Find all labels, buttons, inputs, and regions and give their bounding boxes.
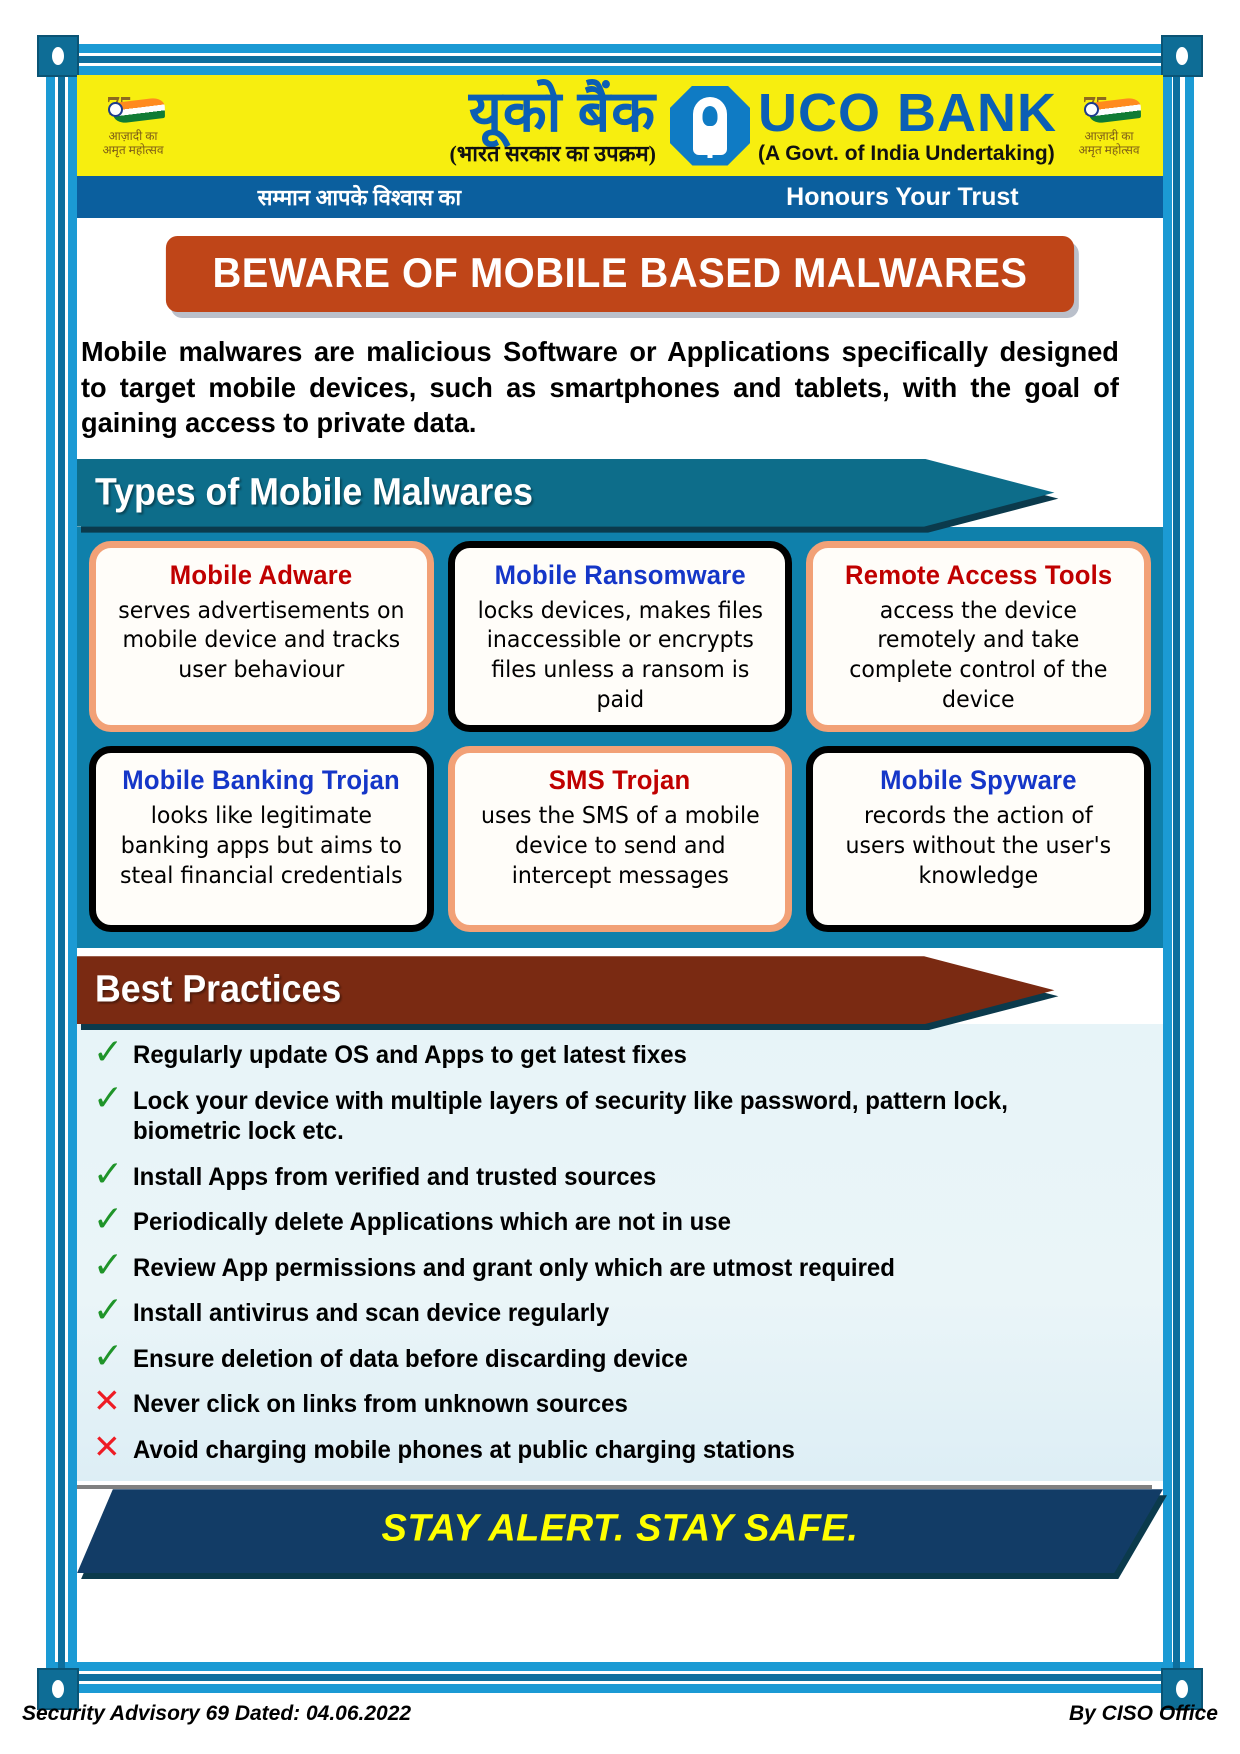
main-title-wrapper: BEWARE OF MOBILE BASED MALWARES <box>77 218 1163 312</box>
card-title: Remote Access Tools <box>845 560 1112 591</box>
footer-issuer: By CISO Office <box>1069 1702 1218 1726</box>
frame-bottom-bar-outer <box>46 1662 1194 1671</box>
check-icon: ✓ <box>93 1294 133 1328</box>
frame-left-bar-inner <box>68 44 77 1694</box>
card-description: uses the SMS of a mobile device to send … <box>473 802 767 891</box>
list-item: ✓ Review App permissions and grant only … <box>93 1249 1147 1284</box>
nib-slit-shape <box>708 136 713 158</box>
card-description: locks devices, makes files inaccessible … <box>473 597 767 716</box>
list-item-text: Install Apps from verified and trusted s… <box>133 1158 1106 1193</box>
card-description: records the action of users without the … <box>831 802 1125 891</box>
list-item-text: Install antivirus and scan device regula… <box>133 1294 1106 1329</box>
card-title: Mobile Adware <box>170 560 353 591</box>
section-ribbon-types: Types of Mobile Malwares <box>77 459 1163 527</box>
malware-card-sms-trojan: SMS Trojan uses the SMS of a mobile devi… <box>448 746 793 932</box>
frame-bottom-bar-inner <box>46 1684 1194 1693</box>
frame-top-bar-middle <box>46 56 1194 63</box>
card-title: Mobile Spyware <box>880 765 1077 796</box>
list-item-text: Lock your device with multiple layers of… <box>133 1082 1106 1147</box>
intro-paragraph: Mobile malwares are malicious Software o… <box>81 334 1127 441</box>
bank-name-hindi-block: यूको बैंक (भारत सरकार का उपक्रम) <box>179 84 662 166</box>
malware-card-remote-access-tools: Remote Access Tools access the device re… <box>806 541 1151 733</box>
list-item: ✕ Never click on links from unknown sour… <box>93 1385 1147 1420</box>
malware-cards-row-1: Mobile Adware serves advertisements on m… <box>89 541 1151 733</box>
bank-subtitle-hindi: (भारत सरकार का उपक्रम) <box>179 142 656 166</box>
cross-icon: ✕ <box>93 1385 133 1416</box>
list-item-text: Regularly update OS and Apps to get late… <box>133 1036 1106 1071</box>
list-item: ✓ Regularly update OS and Apps to get la… <box>93 1036 1147 1071</box>
amrit-hindi-line-1: आज़ादी का <box>108 130 157 144</box>
frame-top-bar-inner <box>46 66 1194 75</box>
bank-name-english: UCO BANK <box>758 86 1057 140</box>
amrit-hindi-line-2-right: अमृत महोत्सव <box>1078 144 1139 158</box>
footer: Security Advisory 69 Dated: 04.06.2022 B… <box>0 1702 1240 1726</box>
corner-bolt-top-right <box>1161 35 1203 77</box>
section-ribbon-best-practices: Best Practices <box>77 956 1163 1024</box>
list-item-text: Avoid charging mobile phones at public c… <box>133 1431 1106 1466</box>
list-item: ✓ Lock your device with multiple layers … <box>93 1082 1147 1147</box>
bank-name-hindi: यूको बैंक <box>179 84 656 141</box>
list-item: ✓ Ensure deletion of data before discard… <box>93 1340 1147 1375</box>
best-practices-list: ✓ Regularly update OS and Apps to get la… <box>77 1024 1163 1481</box>
stay-alert-banner: STAY ALERT. STAY SAFE. <box>77 1485 1163 1573</box>
list-item: ✕ Avoid charging mobile phones at public… <box>93 1431 1147 1466</box>
card-title: Mobile Banking Trojan <box>123 765 401 796</box>
card-description: serves advertisements on mobile device a… <box>114 597 408 686</box>
malware-card-mobile-banking-trojan: Mobile Banking Trojan looks like legitim… <box>89 746 434 932</box>
malware-cards-row-2: Mobile Banking Trojan looks like legitim… <box>89 746 1151 932</box>
list-item: ✓ Install antivirus and scan device regu… <box>93 1294 1147 1329</box>
poster-root: 75 आज़ादी का अमृत महोत्सव यूको बैंक (भार… <box>0 0 1240 1754</box>
list-item: ✓ Periodically delete Applications which… <box>93 1203 1147 1238</box>
frame-top-bar-outer <box>46 44 1194 53</box>
tagline-hindi: सम्मान आपके विश्वास का <box>77 182 642 212</box>
amrit-hindi-line-2: अमृत महोत्सव <box>102 144 163 158</box>
frame-bottom-bar-middle <box>46 1674 1194 1681</box>
stay-alert-text: STAY ALERT. STAY SAFE. <box>77 1508 1163 1551</box>
check-icon: ✓ <box>93 1158 133 1192</box>
frame-right-bar-outer <box>1185 44 1194 1694</box>
check-icon: ✓ <box>93 1036 133 1070</box>
check-icon: ✓ <box>93 1340 133 1374</box>
malware-types-region: Mobile Adware serves advertisements on m… <box>77 527 1163 949</box>
frame-left-bar-outer <box>46 44 55 1694</box>
list-item-text: Review App permissions and grant only wh… <box>133 1249 1106 1284</box>
bank-subtitle-english: (A Govt. of India Undertaking) <box>758 142 1057 166</box>
list-item-text: Ensure deletion of data before discardin… <box>133 1340 1106 1375</box>
check-icon: ✓ <box>93 1203 133 1237</box>
card-title: SMS Trojan <box>549 765 691 796</box>
list-item: ✓ Install Apps from verified and trusted… <box>93 1158 1147 1193</box>
frame-left-bar-middle <box>58 44 65 1694</box>
ashoka-chakra-icon-right <box>1084 102 1099 117</box>
amrit-hindi-line-1-right: आज़ादी का <box>1084 130 1133 144</box>
corner-bolt-top-left <box>37 35 79 77</box>
footer-advisory-reference: Security Advisory 69 Dated: 04.06.2022 <box>22 1702 411 1726</box>
card-description: access the device remotely and take comp… <box>831 597 1125 716</box>
card-title: Mobile Ransomware <box>494 560 745 591</box>
frame-right-bar-middle <box>1173 44 1180 1694</box>
page-title: BEWARE OF MOBILE BASED MALWARES <box>166 236 1074 312</box>
frame-right-bar-inner <box>1163 44 1172 1694</box>
bank-name-english-block: UCO BANK (A Govt. of India Undertaking) <box>758 86 1057 166</box>
azadi-ka-amrit-mahotsav-logo: 75 आज़ादी का अमृत महोत्सव <box>87 83 179 169</box>
ashoka-chakra-icon <box>108 102 123 117</box>
poster-content: 75 आज़ादी का अमृत महोत्सव यूको बैंक (भार… <box>77 75 1163 1662</box>
list-item-text: Periodically delete Applications which a… <box>133 1203 1106 1238</box>
bank-tagline-strip: सम्मान आपके विश्वास का Honours Your Trus… <box>77 176 1163 218</box>
list-item-text: Never click on links from unknown source… <box>133 1385 1106 1420</box>
section-heading-types: Types of Mobile Malwares <box>95 471 533 514</box>
check-icon: ✓ <box>93 1082 133 1116</box>
bank-header: 75 आज़ादी का अमृत महोत्सव यूको बैंक (भार… <box>77 75 1163 176</box>
tagline-english: Honours Your Trust <box>642 183 1163 212</box>
azadi-ka-amrit-mahotsav-logo-right: 75 आज़ादी का अमृत महोत्सव <box>1063 83 1155 169</box>
uco-bank-pen-nib-logo-icon <box>670 86 750 166</box>
section-heading-best-practices: Best Practices <box>95 969 341 1012</box>
card-description: looks like legitimate banking apps but a… <box>114 802 408 891</box>
check-icon: ✓ <box>93 1249 133 1283</box>
malware-card-mobile-ransomware: Mobile Ransomware locks devices, makes f… <box>448 541 793 733</box>
cross-icon: ✕ <box>93 1431 133 1462</box>
malware-card-mobile-spyware: Mobile Spyware records the action of use… <box>806 746 1151 932</box>
malware-card-mobile-adware: Mobile Adware serves advertisements on m… <box>89 541 434 733</box>
banner-divider-line <box>77 1485 1152 1489</box>
